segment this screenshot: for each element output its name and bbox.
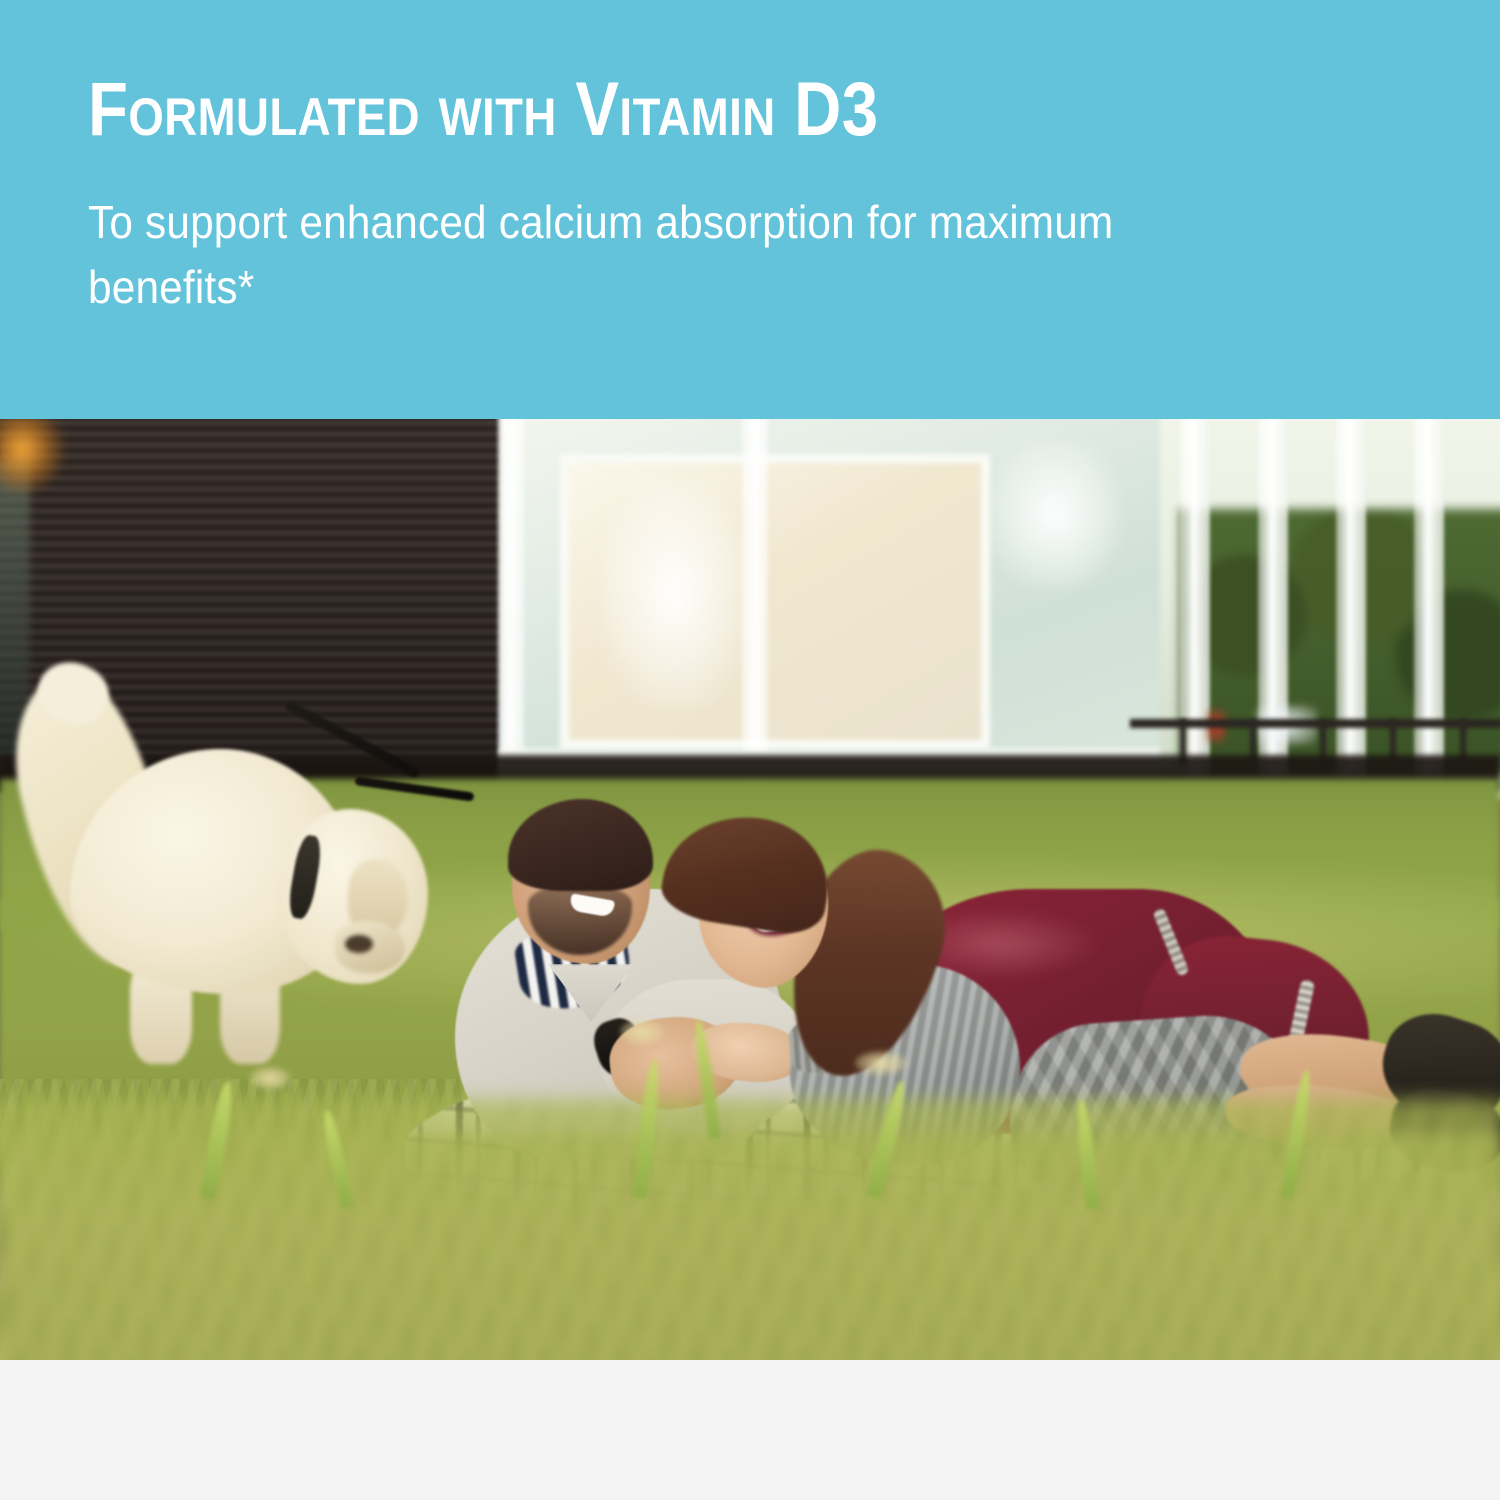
seed-head	[855, 1051, 907, 1075]
white-column	[1414, 419, 1444, 794]
seed-head	[620, 1019, 664, 1045]
header-band: Formulated with Vitamin D3 To support en…	[0, 0, 1500, 419]
lifestyle-photo	[0, 419, 1500, 1360]
white-column	[1336, 419, 1366, 794]
page-subtitle: To support enhanced calcium absorption f…	[88, 190, 1118, 321]
product-info-panel: Formulated with Vitamin D3 To support en…	[0, 0, 1500, 1500]
glass-reflection	[990, 439, 1120, 589]
page-title: Formulated with Vitamin D3	[88, 72, 879, 148]
seed-head	[250, 1067, 290, 1089]
dog-nose	[345, 935, 373, 953]
glass-reflection	[600, 479, 750, 709]
dog	[10, 659, 440, 1059]
footer-disclaimer: *These statements have not been evaluate…	[0, 1360, 1500, 1500]
warm-light-glow	[0, 419, 64, 493]
